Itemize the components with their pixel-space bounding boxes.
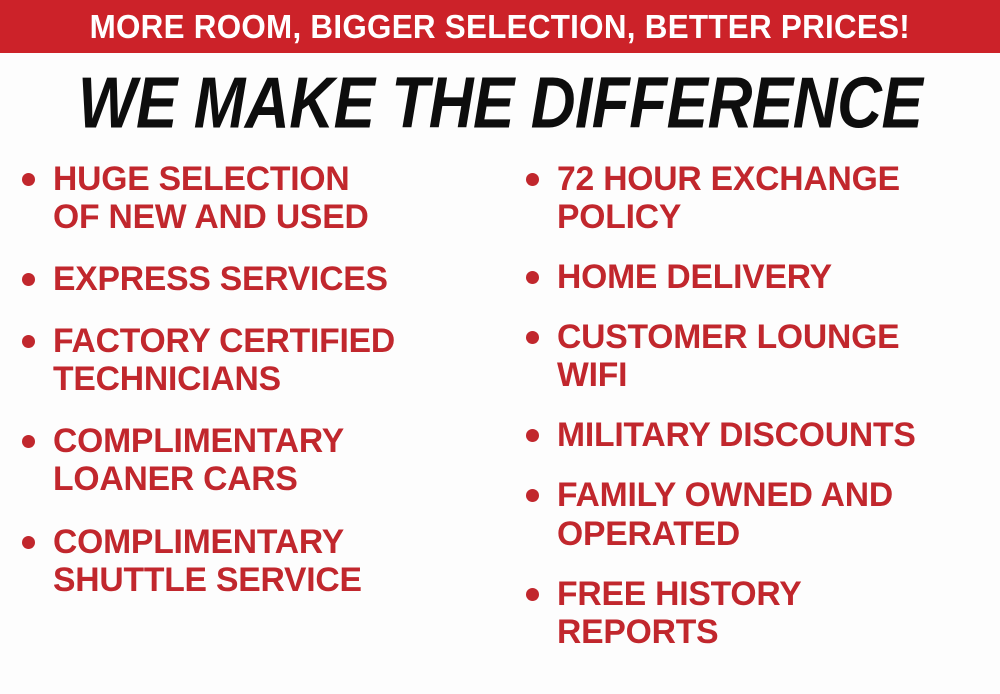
main-headline: WE MAKE THE DIFFERENCE bbox=[0, 66, 1000, 133]
bullet-dot-icon bbox=[526, 173, 539, 186]
list-item: 72 HOUR EXCHANGE POLICY bbox=[526, 160, 998, 236]
list-item: CUSTOMER LOUNGE WIFI bbox=[526, 318, 998, 394]
bullet-dot-icon bbox=[22, 536, 35, 549]
list-item: COMPLIMENTARY SHUTTLE SERVICE bbox=[22, 523, 494, 599]
list-item-label: MILITARY DISCOUNTS bbox=[557, 416, 994, 454]
bullet-dot-icon bbox=[526, 331, 539, 344]
list-item: HOME DELIVERY bbox=[526, 258, 998, 296]
banner-headline-text: MORE ROOM, BIGGER SELECTION, BETTER PRIC… bbox=[90, 10, 910, 43]
bullet-dot-icon bbox=[22, 435, 35, 448]
list-item-label: FAMILY OWNED AND OPERATED bbox=[557, 476, 994, 552]
promotional-poster: MORE ROOM, BIGGER SELECTION, BETTER PRIC… bbox=[0, 0, 1000, 694]
main-headline-text: WE MAKE THE DIFFERENCE bbox=[78, 66, 922, 140]
list-item-label: COMPLIMENTARY SHUTTLE SERVICE bbox=[53, 523, 490, 599]
list-item-label: EXPRESS SERVICES bbox=[53, 260, 490, 298]
bullet-dot-icon bbox=[526, 588, 539, 601]
list-item-label: CUSTOMER LOUNGE WIFI bbox=[557, 318, 994, 394]
bullet-dot-icon bbox=[22, 273, 35, 286]
bullet-dot-icon bbox=[526, 429, 539, 442]
list-item-label: 72 HOUR EXCHANGE POLICY bbox=[557, 160, 994, 236]
benefits-columns: HUGE SELECTION OF NEW AND USED EXPRESS S… bbox=[0, 160, 1000, 694]
top-banner: MORE ROOM, BIGGER SELECTION, BETTER PRIC… bbox=[0, 0, 1000, 53]
bullet-dot-icon bbox=[526, 489, 539, 502]
benefits-column-left: HUGE SELECTION OF NEW AND USED EXPRESS S… bbox=[0, 160, 504, 694]
benefits-column-right: 72 HOUR EXCHANGE POLICY HOME DELIVERY CU… bbox=[504, 160, 1000, 694]
list-item: FREE HISTORY REPORTS bbox=[526, 575, 998, 651]
bullet-dot-icon bbox=[22, 335, 35, 348]
list-item: FAMILY OWNED AND OPERATED bbox=[526, 476, 998, 552]
list-item: EXPRESS SERVICES bbox=[22, 260, 494, 298]
list-item: FACTORY CERTIFIED TECHNICIANS bbox=[22, 322, 494, 398]
list-item-label: FACTORY CERTIFIED TECHNICIANS bbox=[53, 322, 490, 398]
list-item-label: HUGE SELECTION OF NEW AND USED bbox=[53, 160, 490, 236]
bullet-dot-icon bbox=[22, 173, 35, 186]
list-item: COMPLIMENTARY LOANER CARS bbox=[22, 422, 494, 498]
list-item-label: COMPLIMENTARY LOANER CARS bbox=[53, 422, 490, 498]
list-item-label: FREE HISTORY REPORTS bbox=[557, 575, 994, 651]
list-item: HUGE SELECTION OF NEW AND USED bbox=[22, 160, 494, 236]
bullet-dot-icon bbox=[526, 271, 539, 284]
list-item: MILITARY DISCOUNTS bbox=[526, 416, 998, 454]
list-item-label: HOME DELIVERY bbox=[557, 258, 994, 296]
